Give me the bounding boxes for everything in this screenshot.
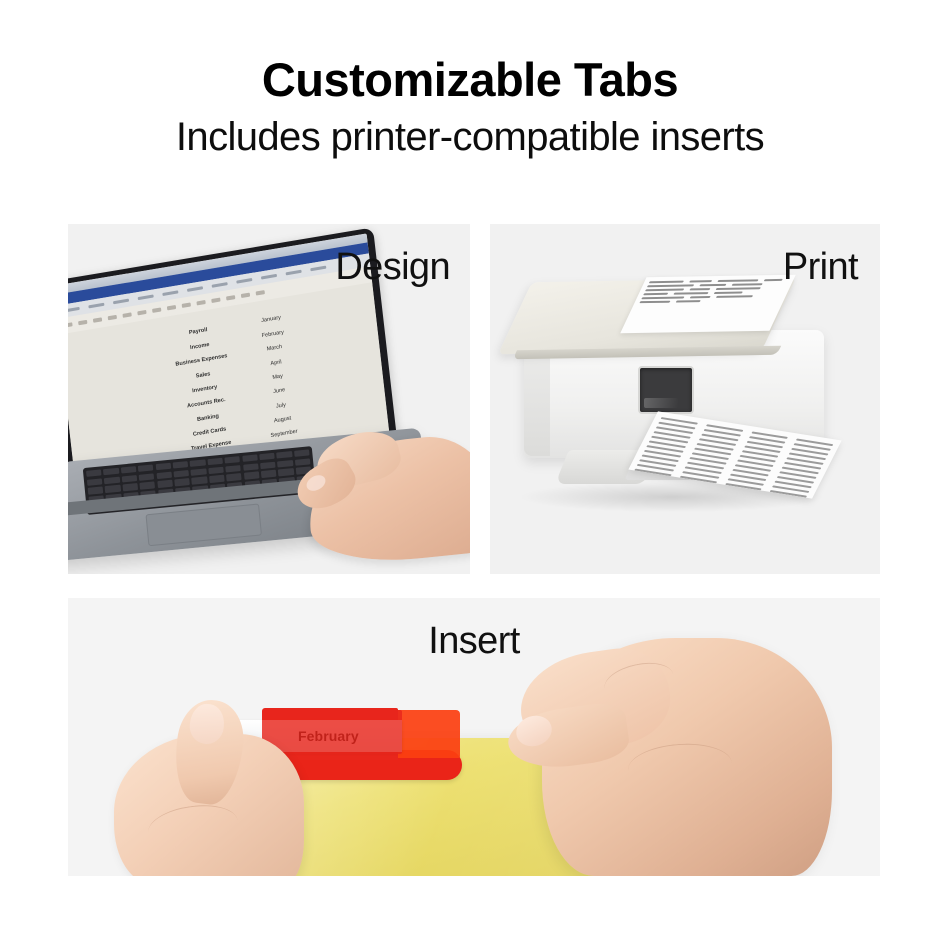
panel-label-print: Print [783, 246, 858, 289]
folder-tab-film-right [398, 710, 460, 758]
hand-holding-folder [508, 616, 838, 876]
panel-label-design: Design [335, 246, 450, 289]
printer-display[interactable] [638, 366, 694, 414]
panel-print: Print [490, 224, 880, 574]
printed-sheet-on-lid [620, 275, 796, 334]
laptop-illustration: Payroll Income Business Expenses Sales I… [68, 250, 470, 574]
printer-illustration [506, 274, 866, 564]
hand-typing [286, 422, 470, 572]
document-column-categories: Payroll Income Business Expenses Sales I… [170, 321, 240, 459]
panel-design: Payroll Income Business Expenses Sales I… [68, 224, 470, 574]
panel-label-insert: Insert [428, 620, 519, 663]
page-header: Customizable Tabs Includes printer-compa… [0, 54, 940, 160]
page-subtitle: Includes printer-compatible inserts [0, 114, 940, 160]
laptop-trackpad [145, 503, 262, 546]
page-title: Customizable Tabs [0, 54, 940, 106]
panel-insert: February Insert [68, 598, 880, 876]
hand-holding-insert [114, 694, 314, 876]
